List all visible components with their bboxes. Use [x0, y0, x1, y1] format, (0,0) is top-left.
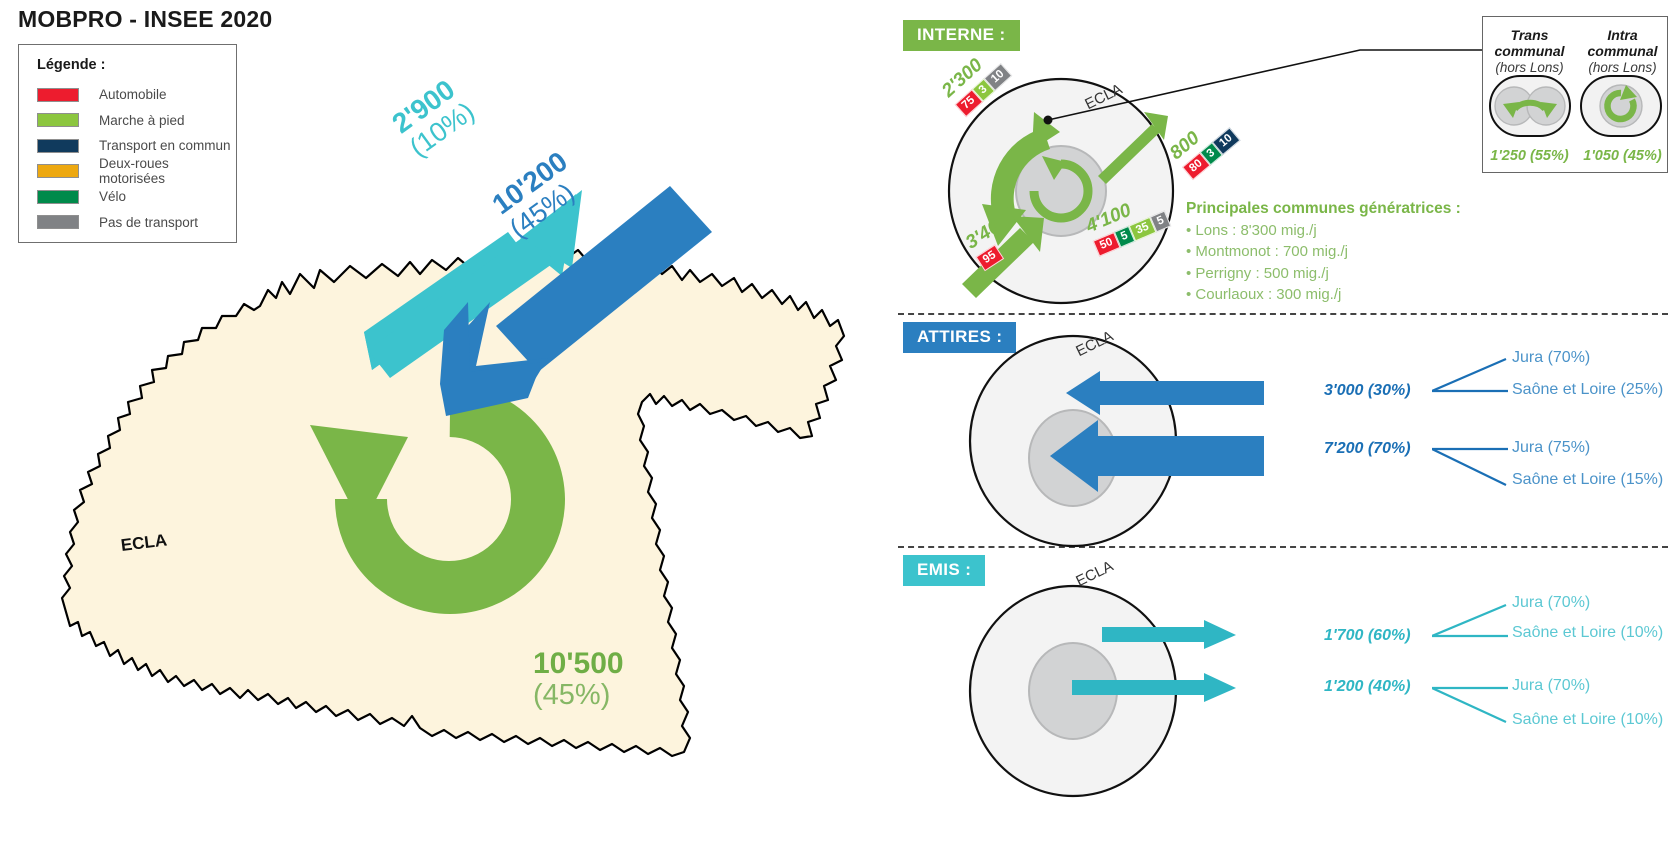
page-title: MOBPRO - INSEE 2020 — [18, 6, 272, 33]
legend-swatch — [37, 88, 79, 102]
divider-interne-attires — [898, 313, 1668, 315]
legend-item-label: Transport en commun — [99, 138, 231, 153]
generator-item: • Courlaoux : 300 mig./j — [1186, 284, 1526, 305]
emis-flow-1200-value: 1'200 (40%) — [1324, 678, 1411, 696]
trans-communal-pictogram — [1489, 73, 1571, 139]
generators-block: Principales communes génératrices : • Lo… — [1186, 200, 1526, 305]
legend-item-label: Automobile — [99, 87, 167, 102]
map-interne-value: 10'500 — [533, 648, 624, 680]
emis-flow-1700-value: 1'700 (60%) — [1324, 627, 1411, 645]
intra-communal-pictogram — [1580, 73, 1662, 139]
legend-title: Légende : — [37, 57, 236, 73]
emis-flow-1700-dest-0: Jura (70%) — [1512, 594, 1590, 612]
emis-flow-1200-dest-0: Jura (70%) — [1512, 677, 1590, 695]
map-interne-percent: (45%) — [533, 680, 624, 711]
map-interne-label: 10'500 (45%) — [533, 648, 624, 712]
legend-item: Automobile — [37, 82, 236, 108]
attires-arrows — [1046, 370, 1316, 510]
trans-communal-title: Trans communal — [1483, 27, 1576, 59]
trans-communal-value: 1'250 (55%) — [1483, 148, 1576, 164]
generator-item: • Lons : 8'300 mig./j — [1186, 220, 1526, 241]
legend-item: Transport en commun — [37, 133, 236, 159]
section-tag-emis: EMIS : — [903, 555, 985, 586]
generator-item: • Perrigny : 500 mig./j — [1186, 263, 1526, 284]
trans-communal-column: Trans communal (hors Lons) — [1483, 27, 1576, 75]
legend-swatch — [37, 113, 79, 127]
attires-flow-7200-dest-1: Saône et Loire (15%) — [1512, 471, 1663, 489]
attires-flow-3000-dest-0: Jura (70%) — [1512, 349, 1590, 367]
attires-flow-7200-value: 7'200 (70%) — [1324, 440, 1411, 458]
attires-flow-3000-dest-1: Saône et Loire (25%) — [1512, 381, 1663, 399]
interne-callout-leader — [1030, 24, 1500, 134]
emis-flow-1200-dest-1: Saône et Loire (10%) — [1512, 711, 1663, 729]
generator-item: • Montmonot : 700 mig./j — [1186, 241, 1526, 262]
communal-callout-box: Trans communal (hors Lons) Intra communa… — [1482, 16, 1668, 173]
legend-item: Marche à pied — [37, 108, 236, 134]
attires-map-arrow — [430, 180, 750, 440]
intra-communal-column: Intra communal (hors Lons) — [1576, 27, 1669, 75]
map-panel: 10'500 (45%) ECLA — [0, 170, 900, 810]
emis-flow-1700-dest-1: Saône et Loire (10%) — [1512, 624, 1663, 642]
legend-item-label: Marche à pied — [99, 113, 185, 128]
attires-flow-3000-value: 3'000 (30%) — [1324, 382, 1411, 400]
intra-communal-title: Intra communal — [1576, 27, 1669, 59]
attires-flow-7200-dest-0: Jura (75%) — [1512, 439, 1590, 457]
generators-title: Principales communes génératrices : — [1186, 200, 1526, 218]
emis-arrows — [1064, 618, 1314, 714]
section-tag-interne: INTERNE : — [903, 20, 1020, 51]
legend-swatch — [37, 139, 79, 153]
intra-communal-value: 1'050 (45%) — [1576, 148, 1669, 164]
